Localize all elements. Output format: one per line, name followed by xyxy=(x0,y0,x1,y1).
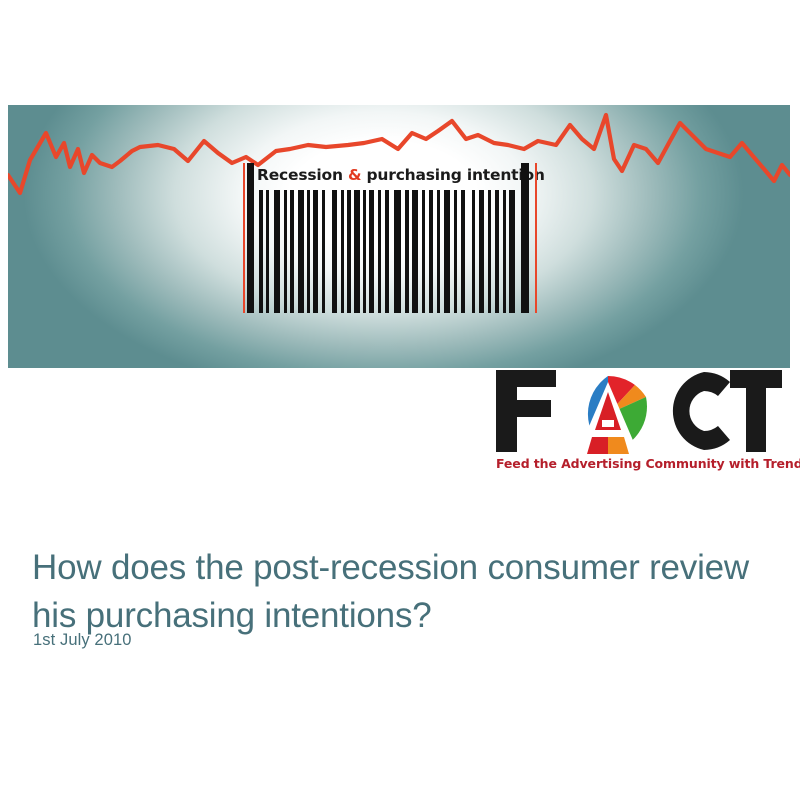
barcode-bar xyxy=(394,190,401,313)
barcode-bar xyxy=(495,190,499,313)
barcode-bar xyxy=(461,190,465,313)
barcode-bar xyxy=(385,190,389,313)
barcode-bar xyxy=(313,190,318,313)
logo-letter-f xyxy=(496,370,556,452)
barcode-bar xyxy=(341,190,344,313)
barcode-bar xyxy=(290,190,294,313)
barcode-bar xyxy=(369,190,374,313)
logo-letter-a-piechart xyxy=(578,376,647,454)
hero-banner: Recession & purchasing intention xyxy=(8,105,790,368)
logo-letter-t xyxy=(730,370,782,452)
barcode-bar xyxy=(509,190,515,313)
fact-logo-mark xyxy=(492,368,784,454)
slide-date: 1st July 2010 xyxy=(33,629,132,651)
barcode-bar xyxy=(259,190,263,313)
barcode-bar xyxy=(363,190,366,313)
barcode-bar xyxy=(274,190,280,313)
barcode-bar xyxy=(488,190,491,313)
barcode-bar xyxy=(429,190,433,313)
barcode-bar xyxy=(247,163,254,313)
barcode-bar xyxy=(479,190,484,313)
barcode-bars xyxy=(243,163,548,313)
barcode-bar xyxy=(243,163,245,313)
barcode-bar xyxy=(535,163,537,313)
fact-logo-tagline: Feed the Advertising Community with Tren… xyxy=(496,456,792,471)
barcode-bar xyxy=(284,190,287,313)
barcode-bar xyxy=(503,190,506,313)
barcode-bar xyxy=(354,190,360,313)
barcode-bar xyxy=(437,190,440,313)
barcode-bar xyxy=(521,163,529,313)
barcode-bar xyxy=(412,190,418,313)
barcode-bar xyxy=(266,190,269,313)
barcode-bar xyxy=(332,190,337,313)
fact-logo: Feed the Advertising Community with Tren… xyxy=(492,368,792,480)
barcode-bar xyxy=(307,190,310,313)
barcode-bar xyxy=(444,190,450,313)
page-title: How does the post-recession consumer rev… xyxy=(32,544,758,640)
barcode-graphic: Recession & purchasing intention xyxy=(243,163,548,313)
barcode-bar xyxy=(405,190,409,313)
barcode-bar xyxy=(454,190,457,313)
barcode-bar xyxy=(298,190,304,313)
logo-letter-c xyxy=(673,372,730,450)
barcode-bar xyxy=(472,190,475,313)
barcode-bar xyxy=(422,190,425,313)
barcode-bar xyxy=(378,190,381,313)
barcode-bar xyxy=(322,190,325,313)
barcode-bar xyxy=(347,190,351,313)
